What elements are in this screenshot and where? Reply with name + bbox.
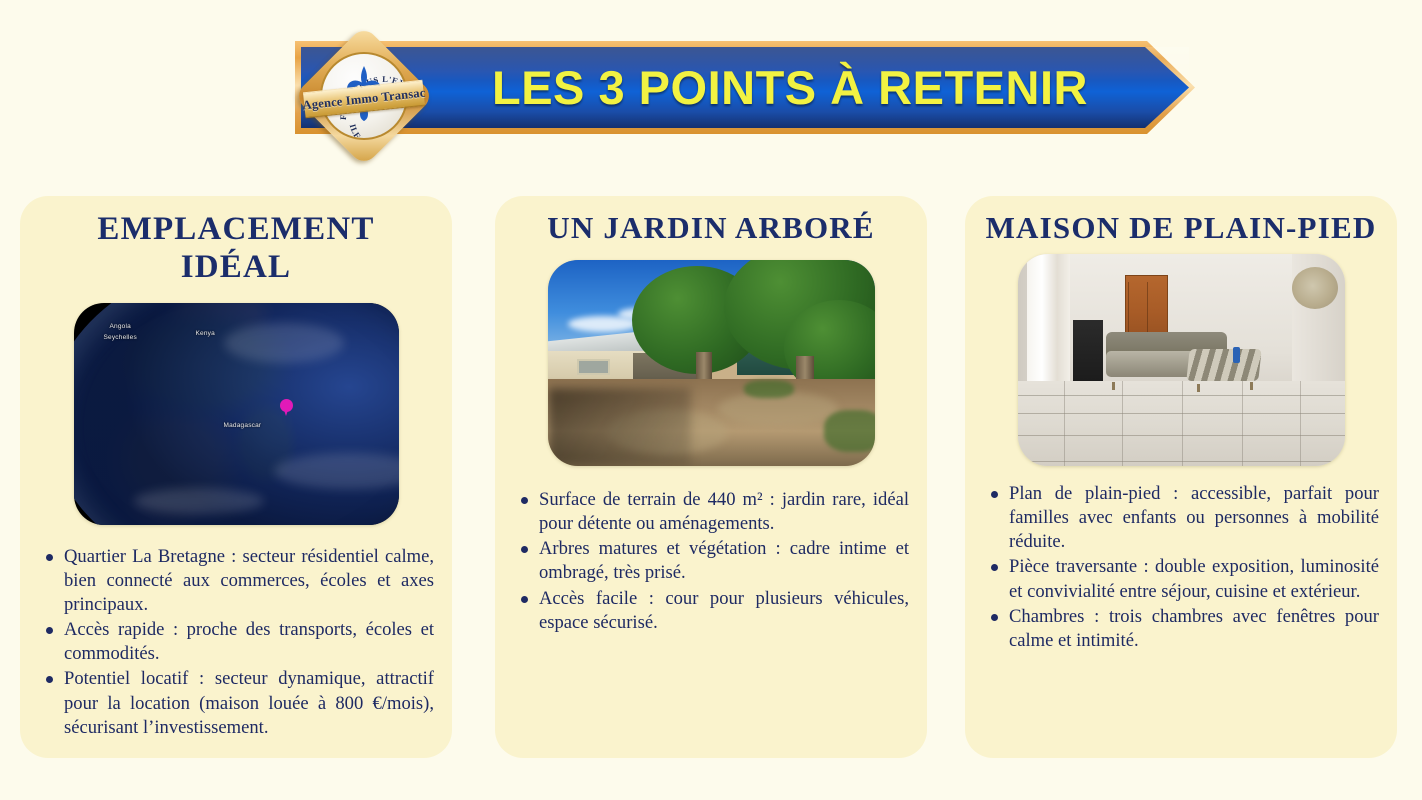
map-label-kenya: Kenya — [196, 330, 215, 337]
living-room-photo — [1018, 254, 1345, 466]
point-card-jardin: UN JARDIN ARBORÉ — [495, 196, 927, 758]
bullet-item: Surface de terrain de 440 m² : jardin ra… — [517, 488, 909, 536]
card-bullets-3: Plan de plain-pied : accessible, parfait… — [987, 482, 1379, 653]
pin-tip — [283, 407, 289, 416]
bullet-item: Accès facile : cour pour plusieurs véhic… — [517, 587, 909, 635]
bullet-item: Chambres : trois chambres avec fenêtres … — [987, 605, 1379, 653]
sofa-leg — [1197, 384, 1200, 392]
location-pin-icon — [280, 399, 293, 416]
tile-line — [1300, 381, 1301, 466]
header-banner: LES 3 POINTS À RETENIR OFFREZ-VOUS L'EXC… — [0, 0, 1422, 180]
card-title-1: EMPLACEMENT IDÉAL — [38, 210, 434, 287]
sofa-chaise — [1186, 349, 1261, 381]
card-title-2: UN JARDIN ARBORÉ — [513, 210, 909, 246]
sofa-leg — [1250, 382, 1253, 390]
title-banner-arrow: LES 3 POINTS À RETENIR — [295, 41, 1195, 134]
slide-root: LES 3 POINTS À RETENIR OFFREZ-VOUS L'EXC… — [0, 0, 1422, 800]
card-title-3: MAISON DE PLAIN-PIED — [983, 210, 1379, 246]
medallion-bottom-arc-label: ILE DE LA RÉUNION — [348, 123, 408, 140]
house-window — [577, 359, 610, 375]
point-card-plain-pied: MAISON DE PLAIN-PIED — [965, 196, 1397, 758]
grass-patch — [824, 410, 875, 452]
blue-bottle — [1233, 347, 1240, 363]
card-image-3 — [1018, 254, 1345, 466]
card-image-1: Angola Seychelles Kenya Madagascar — [74, 303, 399, 525]
tile-line — [1182, 381, 1183, 466]
bullet-item: Arbres matures et végétation : cadre int… — [517, 537, 909, 585]
map-label-seychelles: Seychelles — [104, 334, 137, 341]
point-card-emplacement: EMPLACEMENT IDÉAL Angola Seychelles Keny… — [20, 196, 452, 758]
tile-line — [1064, 381, 1065, 466]
points-card-row: EMPLACEMENT IDÉAL Angola Seychelles Keny… — [0, 196, 1422, 776]
black-cabinet — [1073, 320, 1102, 386]
card-bullets-2: Surface de terrain de 440 m² : jardin ra… — [517, 488, 909, 635]
agency-logo-medallion: OFFREZ-VOUS L'EXCELLENCE ILE DE LA RÉUNI… — [302, 34, 426, 158]
bullet-item: Pièce traversante : double exposition, l… — [987, 555, 1379, 603]
sofa-leg — [1112, 382, 1115, 390]
bullet-item: Accès rapide : proche des transports, éc… — [42, 618, 434, 666]
bullet-item: Plan de plain-pied : accessible, parfait… — [987, 482, 1379, 555]
card-bullets-1: Quartier La Bretagne : secteur résidenti… — [42, 545, 434, 740]
page-title: LES 3 POINTS À RETENIR — [445, 41, 1135, 134]
cloud-band — [224, 323, 344, 363]
map-label-angola: Angola — [110, 323, 131, 330]
grass-patch — [744, 380, 794, 398]
tile-line — [1122, 381, 1123, 466]
wall-decoration — [1292, 267, 1338, 309]
satellite-globe-map: Angola Seychelles Kenya Madagascar — [74, 303, 399, 525]
map-label-madagascar: Madagascar — [224, 422, 262, 429]
tile-line — [1242, 381, 1243, 466]
bullet-item: Potentiel locatif : secteur dynamique, a… — [42, 667, 434, 740]
ground-shadow — [548, 388, 692, 466]
garden-courtyard-photo — [548, 260, 875, 466]
card-image-2 — [548, 260, 875, 466]
tiled-floor — [1018, 381, 1345, 466]
bullet-item: Quartier La Bretagne : secteur résidenti… — [42, 545, 434, 618]
cloud-band — [134, 488, 264, 514]
